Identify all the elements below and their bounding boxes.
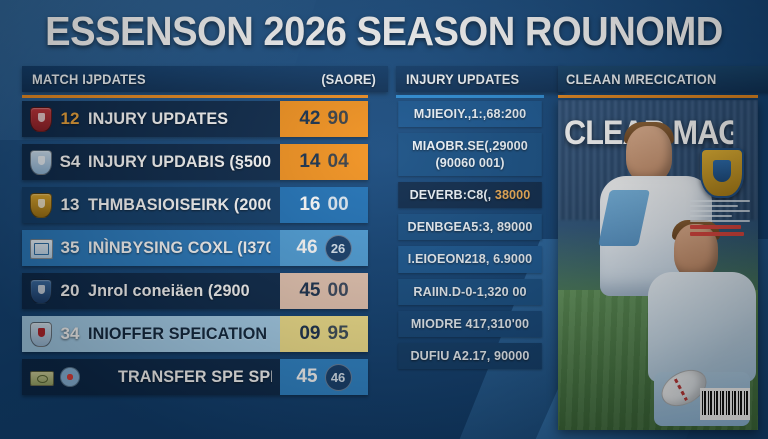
injury-text: RAIIN.D-0-1,320 00 bbox=[413, 284, 526, 299]
match-row[interactable]: 34INIOFFER SPEICATION0995 bbox=[22, 316, 368, 352]
match-label: TRANSFER SPE SPLLICATION bbox=[118, 367, 272, 387]
match-number: 13 bbox=[52, 195, 88, 215]
injury-text: MIAOBR.SE(,29000 bbox=[412, 138, 528, 153]
score-home: 42 bbox=[299, 108, 320, 130]
injury-row[interactable]: DUFIU A2.17, 90000 bbox=[398, 343, 542, 369]
injury-row[interactable]: MIAOBR.SE(,29000(90060 001) bbox=[398, 133, 542, 176]
score-home: 45 bbox=[296, 366, 317, 388]
cover-blurb-lines bbox=[690, 200, 750, 239]
player-front-head bbox=[626, 126, 672, 182]
match-score-header-label: (SAORE) bbox=[321, 71, 375, 87]
score-home: 14 bbox=[299, 151, 320, 173]
match-number: 34 bbox=[52, 324, 88, 344]
match-row[interactable]: 13THMBASIOISEIRK (200000L1600 bbox=[22, 187, 368, 223]
injury-updates-header: INJURY UPDATES bbox=[396, 66, 564, 92]
injury-text: DEVERB:C8(, bbox=[410, 187, 492, 202]
club-emblem-icon bbox=[60, 365, 82, 389]
injury-text: DENBGEA5:3, 89000 bbox=[407, 219, 532, 234]
match-score: 0995 bbox=[280, 316, 368, 352]
score-home: 45 bbox=[299, 280, 320, 302]
match-label: INÌNBYSING COXL (I370 bbox=[88, 238, 270, 258]
injury-text: DUFIU A2.17, 90000 bbox=[410, 348, 529, 363]
score-home: 16 bbox=[299, 194, 320, 216]
match-score: 1404 bbox=[280, 144, 368, 180]
magazine-cover[interactable]: CLEAR MAGZINE bbox=[558, 100, 758, 430]
injury-row[interactable]: DENBGEA5:3, 89000 bbox=[398, 214, 542, 240]
match-updates-header: MATCH IJPDATES (SAORE) bbox=[22, 66, 388, 92]
injury-row[interactable]: DEVERB:C8(, 38000 bbox=[398, 182, 542, 208]
match-score: 4290 bbox=[280, 101, 368, 137]
match-label: THMBASIOISEIRK (200000L bbox=[88, 195, 270, 215]
score-away: 46 bbox=[325, 364, 352, 391]
match-row[interactable]: 12INJURY UPDATES4290 bbox=[22, 101, 368, 137]
shield-crest-icon bbox=[30, 322, 52, 346]
score-away: 00 bbox=[328, 280, 349, 302]
page-title: ESSENSON 2026 SEASON ROUNOMD bbox=[27, 8, 741, 55]
match-label: INJURY UPDATES bbox=[88, 109, 270, 129]
gold-crest-icon bbox=[30, 193, 52, 217]
magazine-header-label: CLEAAN MRECICATION bbox=[566, 71, 716, 87]
match-label: INIOFFER SPEICATION bbox=[88, 324, 270, 344]
match-number: 12 bbox=[52, 109, 88, 129]
match-header-rule bbox=[22, 95, 368, 98]
match-row[interactable]: 35INÌNBYSING COXL (I3704626 bbox=[22, 230, 368, 266]
injury-text: MJIEOIY.,1:,68:200 bbox=[414, 106, 527, 121]
injury-updates-list: MJIEOIY.,1:,68:200MIAOBR.SE(,29000(90060… bbox=[396, 101, 544, 375]
match-row[interactable]: S4INJURY UPDABIS (§5001404 bbox=[22, 144, 368, 180]
injury-row[interactable]: MJIEOIY.,1:,68:200 bbox=[398, 101, 542, 127]
match-number: 35 bbox=[52, 238, 88, 258]
match-score: 1600 bbox=[280, 187, 368, 223]
injury-row[interactable]: RAIIN.D-0-1,320 00 bbox=[398, 279, 542, 305]
score-away: 04 bbox=[328, 151, 349, 173]
score-away: 00 bbox=[328, 194, 349, 216]
injury-subtext: (90060 001) bbox=[404, 155, 536, 171]
injury-text: MIODRE 417,310'00 bbox=[411, 316, 529, 331]
injury-row[interactable]: I.EIOEON218, 6.9000 bbox=[398, 246, 542, 272]
magazine-header-rule bbox=[558, 95, 758, 98]
navy-crest-icon bbox=[30, 279, 52, 303]
match-score: 4626 bbox=[280, 230, 368, 266]
match-updates-list: 12INJURY UPDATES4290S4INJURY UPDABIS (§5… bbox=[22, 101, 368, 402]
score-away: 95 bbox=[328, 323, 349, 345]
match-score: 4546 bbox=[280, 359, 368, 395]
score-home: 09 bbox=[299, 323, 320, 345]
season-roundup-graphic: ESSENSON 2026 SEASON ROUNOMD MATCH IJPDA… bbox=[0, 0, 768, 439]
barcode-bars bbox=[702, 391, 748, 415]
player-back-jersey bbox=[648, 272, 756, 382]
money-icon bbox=[30, 365, 52, 389]
match-number: 20 bbox=[52, 281, 88, 301]
score-home: 46 bbox=[296, 237, 317, 259]
lightblue-crest-icon bbox=[30, 150, 52, 174]
injury-row[interactable]: MIODRE 417,310'00 bbox=[398, 311, 542, 337]
club-crest-icon bbox=[700, 148, 744, 198]
injury-updates-header-label: INJURY UPDATES bbox=[406, 71, 519, 87]
score-away: 90 bbox=[328, 108, 349, 130]
red-crest-icon bbox=[30, 107, 52, 131]
match-row[interactable]: 20Jnrol coneiäen (29004500 bbox=[22, 273, 368, 309]
barcode-icon bbox=[700, 388, 750, 420]
match-score: 4500 bbox=[280, 273, 368, 309]
injury-text: I.EIOEON218, 6.9000 bbox=[408, 251, 533, 266]
injury-highlight-value: 38000 bbox=[491, 187, 530, 202]
magazine-header: CLEAAN MRECICATION bbox=[558, 66, 768, 92]
match-label: Jnrol coneiäen (2900 bbox=[88, 281, 270, 301]
match-updates-header-label: MATCH IJPDATES bbox=[32, 71, 146, 87]
document-icon bbox=[30, 236, 52, 260]
match-row[interactable]: TRANSFER SPE SPLLICATION4546 bbox=[22, 359, 368, 395]
match-label: INJURY UPDABIS (§500 bbox=[88, 152, 270, 172]
match-number: S4 bbox=[52, 152, 88, 172]
score-away: 26 bbox=[325, 235, 352, 262]
injury-header-rule bbox=[396, 95, 544, 98]
